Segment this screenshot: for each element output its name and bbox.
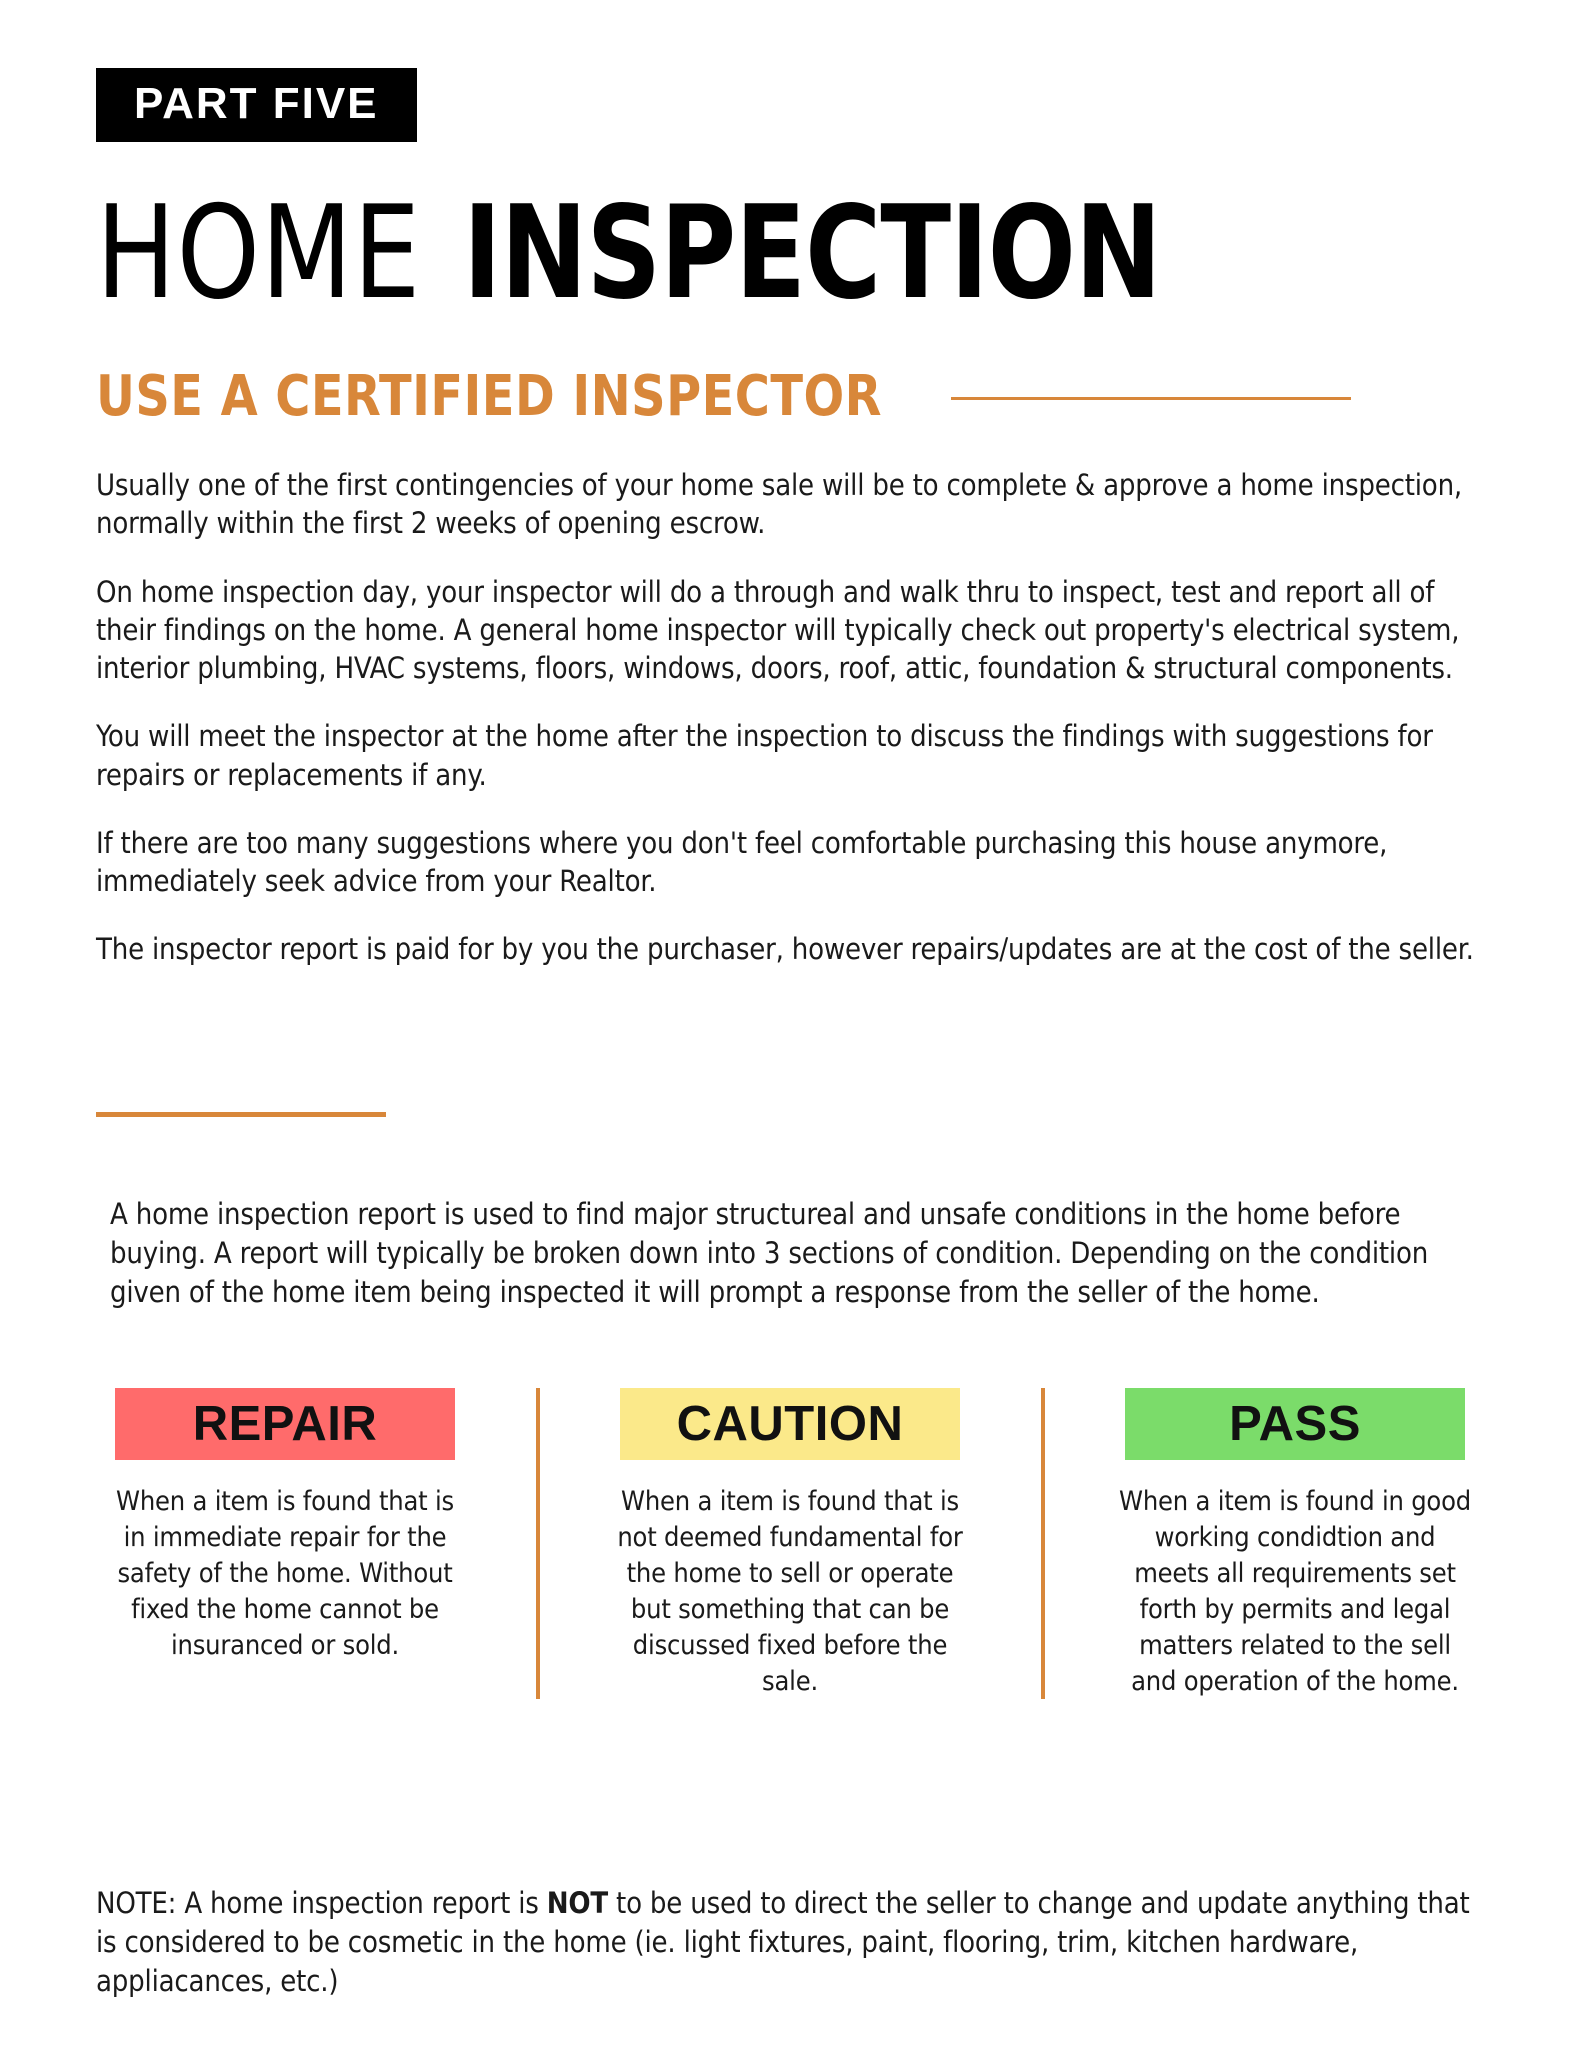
body-paragraph: If there are too many suggestions where … [96, 824, 1486, 901]
status-badge-caution-label: CAUTION [677, 1400, 904, 1449]
section-divider [96, 1112, 386, 1117]
note-text: NOTE: A home inspection report is NOT to… [96, 1884, 1496, 2001]
vertical-rule [1041, 1388, 1045, 1699]
body-paragraph: You will meet the inspector at the home … [96, 717, 1486, 794]
body-paragraph: The inspector report is paid for by you … [96, 930, 1486, 968]
condition-description-pass: When a item is found in good working con… [1115, 1484, 1475, 1699]
page-title-light: HOME [96, 190, 421, 318]
document-page: PART FIVE HOMEINSPECTION USE A CERTIFIED… [0, 0, 1583, 2048]
vertical-rule [536, 1388, 540, 1699]
condition-columns: REPAIR When a item is found that is in i… [90, 1388, 1490, 1699]
condition-column-caution: CAUTION When a item is found that is not… [595, 1388, 985, 1699]
condition-column-repair: REPAIR When a item is found that is in i… [90, 1388, 480, 1699]
condition-description-caution: When a item is found that is not deemed … [610, 1484, 970, 1699]
sections-intro: A home inspection report is used to find… [110, 1195, 1480, 1312]
status-badge-caution: CAUTION [620, 1388, 960, 1460]
column-divider-2 [985, 1388, 1100, 1699]
status-badge-pass-label: PASS [1229, 1400, 1361, 1449]
condition-description-repair: When a item is found that is in immediat… [105, 1484, 465, 1664]
part-badge: PART FIVE [96, 68, 417, 142]
body-paragraph: Usually one of the first contingencies o… [96, 466, 1486, 543]
condition-column-pass: PASS When a item is found in good workin… [1100, 1388, 1490, 1699]
status-badge-repair-label: REPAIR [193, 1400, 378, 1449]
page-title-bold: INSPECTION [463, 190, 1161, 318]
column-divider-1 [480, 1388, 595, 1699]
page-title: HOMEINSPECTION [96, 190, 1239, 318]
sections-intro-text: A home inspection report is used to find… [110, 1195, 1480, 1312]
status-badge-pass: PASS [1125, 1388, 1465, 1460]
subtitle-row: USE A CERTIFIED INSPECTOR [96, 364, 1496, 429]
status-badge-repair: REPAIR [115, 1388, 455, 1460]
note-block: NOTE: A home inspection report is NOT to… [96, 1884, 1496, 2001]
note-emphasis: NOT [547, 1886, 608, 1920]
body-paragraph: On home inspection day, your inspector w… [96, 573, 1486, 688]
body-paragraphs: Usually one of the first contingencies o… [96, 466, 1486, 999]
subtitle-rule [951, 397, 1351, 400]
note-prefix: NOTE: A home inspection report is [96, 1886, 547, 1920]
page-subtitle: USE A CERTIFIED INSPECTOR [96, 364, 882, 429]
